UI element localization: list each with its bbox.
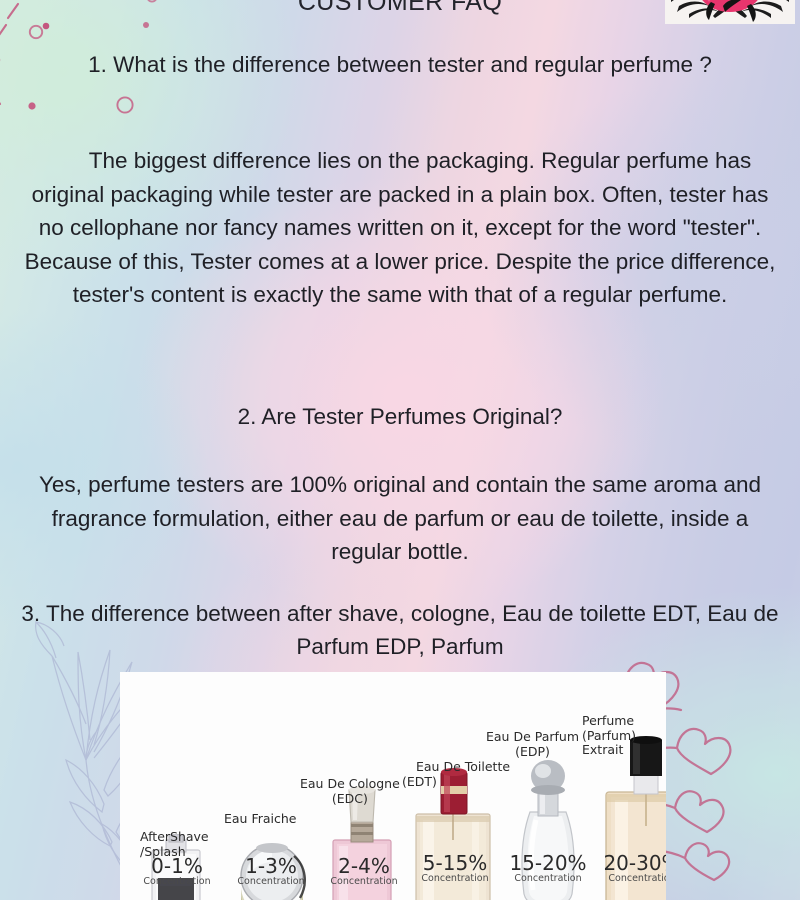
concentration-value-5: 15-20% Concentration xyxy=(502,853,594,885)
infographic-label-5: Eau De Parfum (EDP) xyxy=(486,730,579,759)
faq-question-1: 1. What is the difference between tester… xyxy=(20,48,780,82)
infographic-label-3: Eau De Cologne (EDC) xyxy=(300,777,400,806)
faq-poster: CUSTOMER FAQ 1. What is the difference b… xyxy=(0,0,800,900)
faq-question-3: 3. The difference between after shave, c… xyxy=(20,597,780,663)
faq-answer-1: The biggest difference lies on the packa… xyxy=(20,144,780,312)
concentration-value-1: 0-1% Concentration xyxy=(136,856,218,888)
faq-answer-1-text: The biggest difference lies on the packa… xyxy=(25,148,776,307)
faq-question-2: 2. Are Tester Perfumes Original? xyxy=(20,400,780,434)
infographic-label-6: Perfume (Parfum) Extrait xyxy=(582,714,636,758)
infographic-label-4: Eau De Toilette (EDT) xyxy=(416,760,510,789)
concentration-value-4: 5-15% Concentration xyxy=(412,853,498,885)
concentration-value-2: 1-3% Concentration xyxy=(230,856,312,888)
page-title: CUSTOMER FAQ xyxy=(0,0,800,17)
faq-answer-2: Yes, perfume testers are 100% original a… xyxy=(20,468,780,569)
concentration-value-3: 2-4% Concentration xyxy=(323,856,405,888)
perfume-concentration-infographic: AfterShave /Splash Eau Fraiche Eau De Co… xyxy=(120,672,666,900)
concentration-value-6: 20-30% Concentration xyxy=(596,853,666,885)
infographic-label-2: Eau Fraiche xyxy=(224,812,297,827)
